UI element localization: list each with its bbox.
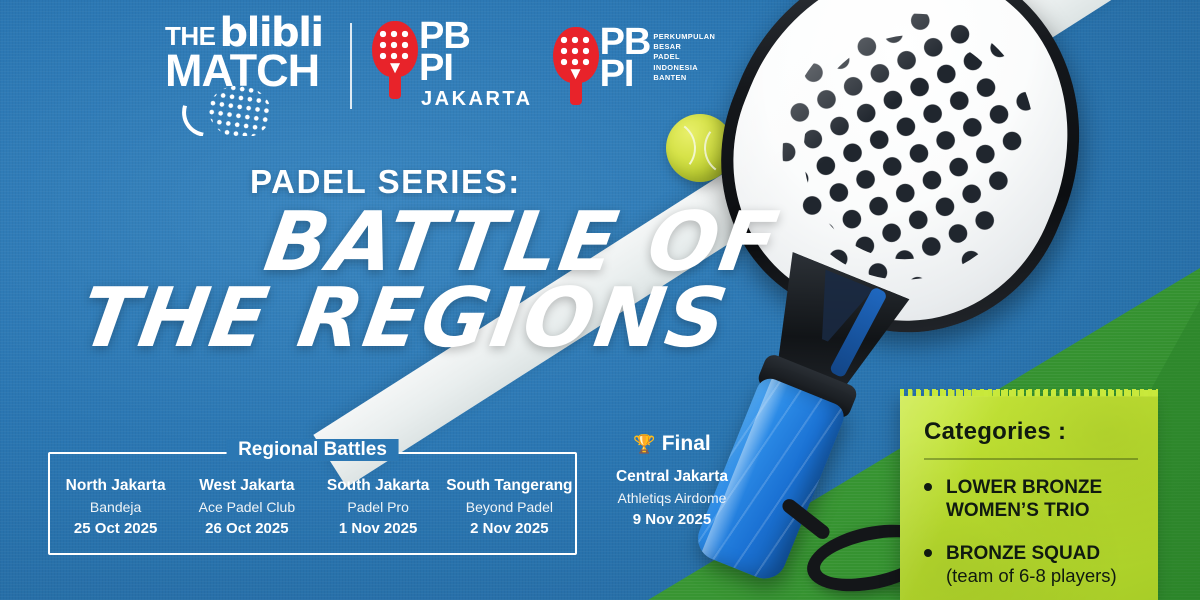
red-padel-racket-icon: ▼: [372, 21, 418, 99]
regional-battles-panel: Regional Battles North Jakarta Bandeja 2…: [48, 452, 577, 555]
pbpi-banten-text: PB PI: [600, 27, 651, 92]
final-date: 9 Nov 2025: [592, 509, 752, 532]
pbpi-banten-subtitle: PERKUMPULANBESARPADELINDONESIABANTEN: [653, 32, 715, 83]
pbpi-banten-logo: ▼ PB PI PERKUMPULANBESARPADELINDONESIABA…: [553, 27, 716, 105]
regional-city: South Jakarta: [313, 475, 444, 497]
category-line1: LOWER BRONZE: [946, 477, 1102, 498]
promo-banner: THE blibli MATCH ▼ PB PI JAKARTA: [0, 0, 1200, 600]
final-label: Final: [662, 432, 711, 456]
blibli-match-logo: THE blibli MATCH: [165, 14, 330, 118]
regional-date: 2 Nov 2025: [444, 518, 575, 541]
racket-hole-dots: [560, 36, 592, 66]
regional-venue: Beyond Padel: [444, 497, 575, 517]
regional-venue: Ace Padel Club: [181, 497, 312, 517]
regional-battle-item: North Jakarta Bandeja 25 Oct 2025: [50, 475, 181, 540]
racket-hole-dots: [379, 30, 411, 60]
pbpi-city-text: JAKARTA: [421, 88, 533, 111]
category-line1: BRONZE SQUAD: [946, 543, 1100, 564]
regional-battles-title: Regional Battles: [226, 439, 399, 461]
red-padel-racket-icon: ▼: [553, 27, 599, 105]
categories-content: Categories : LOWER BRONZE WOMEN’S TRIO B…: [900, 396, 1158, 588]
regional-date: 1 Nov 2025: [313, 518, 444, 541]
pbpi-jakarta-logo: ▼ PB PI JAKARTA: [372, 21, 533, 111]
regional-date: 26 Oct 2025: [181, 518, 312, 541]
page-title: BATTLE OF THE REGIONS: [48, 205, 785, 358]
logo-divider: [350, 23, 352, 109]
page-title-line1: BATTLE OF: [60, 205, 784, 281]
regional-battle-item: South Tangerang Beyond Padel 2 Nov 2025: [444, 475, 575, 540]
regional-battle-item: West Jakarta Ace Padel Club 26 Oct 2025: [181, 475, 312, 540]
category-item: BRONZE SQUAD (team of 6-8 players): [924, 542, 1140, 588]
categories-divider: [924, 458, 1138, 460]
bullet-icon: [924, 549, 932, 557]
logo-row: THE blibli MATCH ▼ PB PI JAKARTA: [165, 14, 715, 118]
category-note: (team of 6-8 players): [946, 565, 1117, 586]
categories-note: Categories : LOWER BRONZE WOMEN’S TRIO B…: [900, 396, 1158, 600]
page-title-line2: THE REGIONS: [48, 281, 772, 357]
categories-title: Categories :: [924, 418, 1140, 446]
final-panel: 🏆 Final Central Jakarta Athletiqs Airdom…: [592, 432, 752, 532]
pbpi-subtitle-line: PADEL: [653, 52, 715, 62]
final-city: Central Jakarta: [592, 465, 752, 488]
regional-venue: Bandeja: [50, 497, 181, 517]
racket-holes-inner: [773, 6, 1045, 288]
padel-racket-dots-icon: [181, 76, 273, 136]
pbpi-subtitle-line: BANTEN: [653, 73, 715, 83]
pbpi-subtitle-line: BESAR: [653, 42, 715, 52]
regional-battles-columns: North Jakarta Bandeja 25 Oct 2025 West J…: [50, 454, 575, 553]
pbpi-subtitle-line: INDONESIA: [653, 63, 715, 73]
regional-city: West Jakarta: [181, 475, 312, 497]
categories-list: LOWER BRONZE WOMEN’S TRIO BRONZE SQUAD (…: [924, 476, 1140, 589]
final-heading: 🏆 Final: [592, 432, 752, 456]
regional-city: South Tangerang: [444, 475, 575, 497]
pbpi-pi-text: PI: [419, 52, 533, 85]
final-venue: Athletiqs Airdome: [592, 488, 752, 509]
regional-battle-item: South Jakarta Padel Pro 1 Nov 2025: [313, 475, 444, 540]
category-item: LOWER BRONZE WOMEN’S TRIO: [924, 476, 1140, 522]
pbpi-jakarta-text: PB PI JAKARTA: [419, 21, 533, 111]
regional-venue: Padel Pro: [313, 497, 444, 517]
regional-city: North Jakarta: [50, 475, 181, 497]
pbpi-subtitle-line: PERKUMPULAN: [653, 32, 715, 42]
trophy-icon: 🏆: [633, 435, 655, 453]
garuda-emblem-icon: ▼: [385, 59, 405, 77]
bullet-icon: [924, 483, 932, 491]
garuda-emblem-icon: ▼: [566, 65, 586, 83]
regional-date: 25 Oct 2025: [50, 518, 181, 541]
pbpi-pi-text: PI: [600, 58, 651, 91]
category-line2: WOMEN’S TRIO: [946, 500, 1090, 521]
